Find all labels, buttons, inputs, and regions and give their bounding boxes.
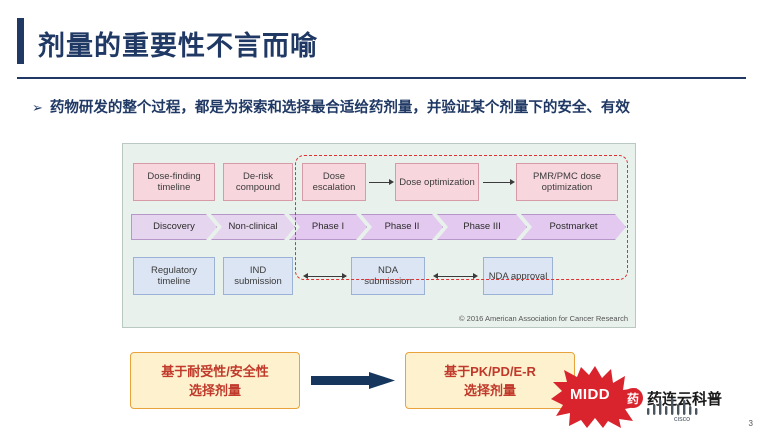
chevron-postmarket: Postmarket: [521, 214, 626, 240]
drug-development-diagram: Dose-finding timeline De-risk compound D…: [122, 143, 636, 328]
callout-safety-based-dose: 基于耐受性/安全性 选择剂量: [130, 352, 300, 409]
callout-right-line1: 基于PK/PD/E-R: [444, 362, 536, 381]
callout-left-line1: 基于耐受性/安全性: [161, 362, 269, 381]
box-dose-escalation: Dose escalation: [302, 163, 366, 201]
bullet-arrow-icon: ➢: [32, 98, 43, 118]
chevron-phase-iii: Phase III: [437, 214, 527, 240]
title-divider: [17, 77, 746, 79]
callout-left-line2: 选择剂量: [189, 381, 241, 400]
starburst-label: MIDD: [570, 386, 610, 403]
diagram-inner: Dose-finding timeline De-risk compound D…: [123, 144, 635, 327]
brand-badge-icon: 药: [623, 388, 643, 408]
arrow-optimization-to-pmr-line: [483, 182, 512, 183]
diagram-copyright: © 2016 American Association for Cancer R…: [459, 314, 628, 323]
page-title: 剂量的重要性不言而喻: [38, 24, 318, 63]
callout-pkpd-based-dose: 基于PK/PD/E-R 选择剂量: [405, 352, 575, 409]
arrow-ind-to-nda-line: [308, 276, 346, 277]
page-number: 3: [749, 419, 753, 428]
arrow-escalation-to-optimization-head: [389, 179, 394, 185]
bullet-paragraph: ➢ 药物研发的整个过程，都是为探索和选择最合适给药剂量，并验证某个剂量下的安全、…: [32, 98, 732, 118]
box-ind-submission: IND submission: [223, 257, 293, 295]
box-dose-optimization: Dose optimization: [395, 163, 479, 201]
arrow-nda-sub-to-approval-line: [438, 276, 476, 277]
callout-right-line2: 选择剂量: [464, 381, 516, 400]
arrow-optimization-to-pmr-head: [510, 179, 515, 185]
arrow-nda-sub-to-approval-head-right: [473, 273, 478, 279]
box-nda-approval: NDA approval: [483, 257, 553, 295]
chevron-non-clinical: Non-clinical: [211, 214, 295, 240]
transition-right-arrow-icon: [311, 372, 395, 389]
chevron-phase-ii: Phase II: [361, 214, 443, 240]
cisco-logo-icon: cisco: [645, 396, 719, 422]
box-de-risk-compound: De-risk compound: [223, 163, 293, 201]
box-nda-submission: NDA submission: [351, 257, 425, 295]
arrow-escalation-to-optimization-line: [369, 182, 391, 183]
slide-canvas: 剂量的重要性不言而喻 ➢ 药物研发的整个过程，都是为探索和选择最合适给药剂量，并…: [0, 0, 763, 432]
arrow-ind-to-nda-head-right: [342, 273, 347, 279]
chevron-phase-i: Phase I: [289, 214, 367, 240]
chevron-discovery: Discovery: [131, 214, 217, 240]
box-dose-finding-timeline: Dose-finding timeline: [133, 163, 215, 201]
title-accent-bar: [17, 18, 24, 64]
bullet-text: 药物研发的整个过程，都是为探索和选择最合适给药剂量，并验证某个剂量下的安全、有效: [50, 98, 630, 118]
cisco-wordmark: cisco: [674, 416, 690, 422]
box-pmr-pmc-dose-optimization: PMR/PMC dose optimization: [516, 163, 618, 201]
box-regulatory-timeline: Regulatory timeline: [133, 257, 215, 295]
